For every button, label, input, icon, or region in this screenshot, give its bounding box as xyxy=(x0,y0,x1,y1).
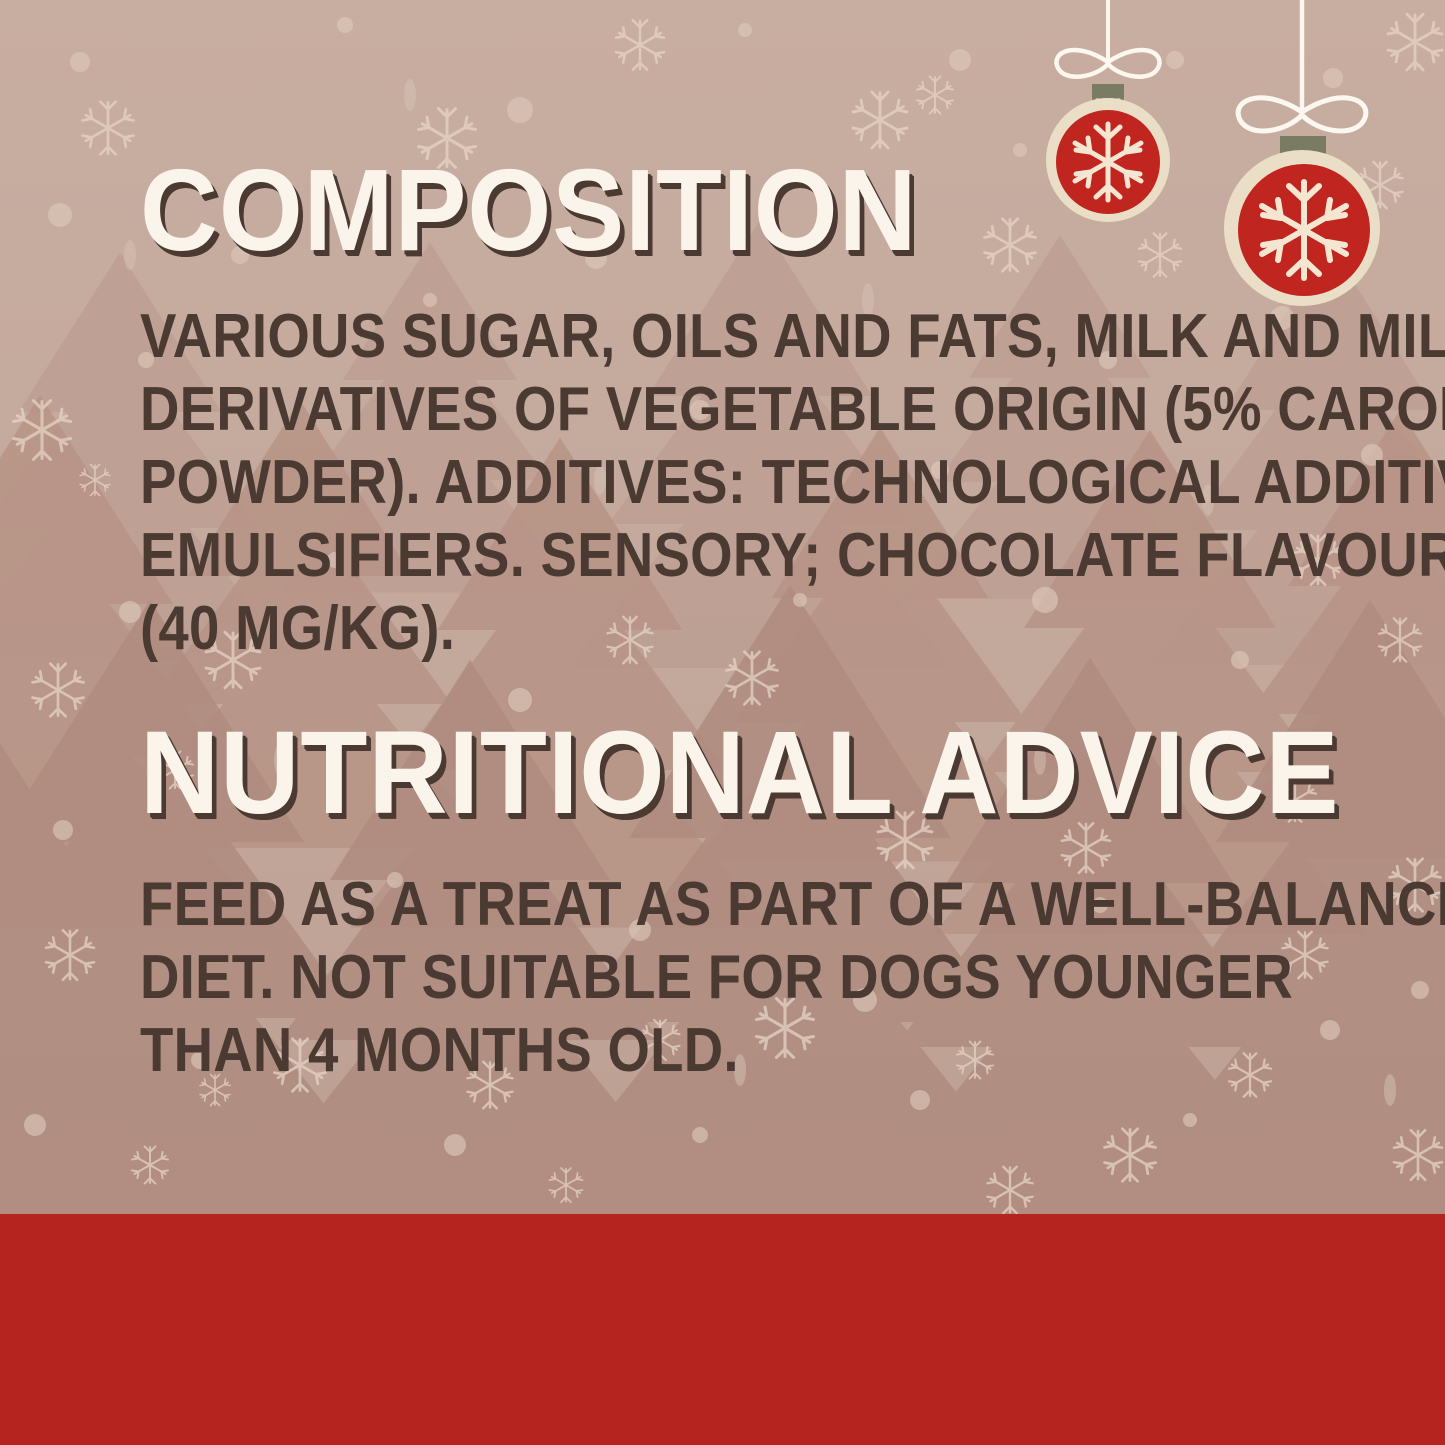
nutritional-advice-heading: NUTRITIONAL ADVICE xyxy=(140,714,1340,832)
nutritional-advice-body-line: DIET. NOT SUITABLE FOR DOGS YOUNGER xyxy=(140,941,1319,1014)
composition-body-line: DERIVATIVES OF VEGETABLE ORIGIN (5% CARO… xyxy=(140,373,1319,446)
composition-body: VARIOUS SUGAR, OILS AND FATS, MILK AND M… xyxy=(140,300,1319,665)
composition-heading: COMPOSITION xyxy=(140,152,917,268)
nutritional-advice-body: FEED AS A TREAT AS PART OF A WELL-BALANC… xyxy=(140,868,1319,1087)
christmas-bauble-large xyxy=(1224,0,1380,306)
bottom-red-band xyxy=(0,1214,1445,1445)
nutritional-advice-body-line: FEED AS A TREAT AS PART OF A WELL-BALANC… xyxy=(140,868,1319,941)
composition-body-line: (40 MG/KG). xyxy=(140,592,1319,665)
christmas-bauble-small xyxy=(1046,0,1170,222)
bow-right-loop xyxy=(1108,50,1160,77)
composition-body-line: POWDER). ADDITIVES: TECHNOLOGICAL ADDITI… xyxy=(140,446,1319,519)
product-label-panel: COMPOSITION VARIOUS SUGAR, OILS AND FATS… xyxy=(0,0,1445,1445)
bow-left-loop xyxy=(1056,50,1108,77)
bow-right-loop xyxy=(1302,98,1366,131)
composition-body-line: EMULSIFIERS. SENSORY; CHOCOLATE FLAVOURI… xyxy=(140,519,1319,592)
nutritional-advice-body-line: THAN 4 MONTHS OLD. xyxy=(140,1014,1319,1087)
bow-left-loop xyxy=(1238,98,1302,131)
composition-body-line: VARIOUS SUGAR, OILS AND FATS, MILK AND M… xyxy=(140,300,1319,373)
bauble-cap xyxy=(1092,84,1124,98)
